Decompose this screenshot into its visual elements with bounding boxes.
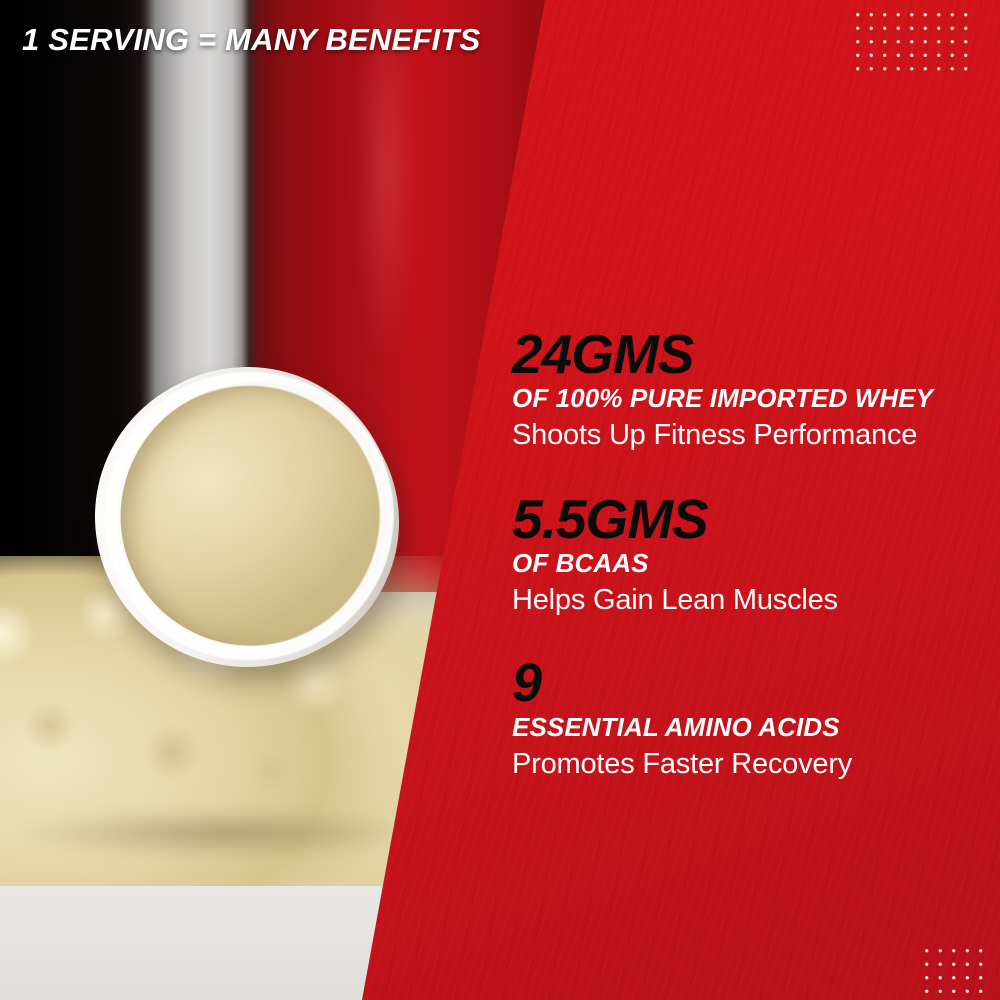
benefits-list: 24GMS OF 100% PURE IMPORTED WHEY Shoots … xyxy=(512,326,982,781)
benefit-amount: 9 xyxy=(512,656,982,711)
benefit-description: Helps Gain Lean Muscles xyxy=(512,583,982,618)
dot-grid-icon-bottom-right xyxy=(920,944,990,1000)
product-benefits-poster: 1 SERVING = MANY BENEFITS 24GMS OF 100% … xyxy=(0,0,1000,1000)
photo-container-highlight xyxy=(352,0,422,420)
dot-grid-icon-top-right xyxy=(851,8,975,78)
benefit-description: Promotes Faster Recovery xyxy=(512,747,982,782)
benefit-item-whey: 24GMS OF 100% PURE IMPORTED WHEY Shoots … xyxy=(512,326,982,453)
benefit-amount: 5.5GMS xyxy=(512,491,982,547)
benefit-subtitle: OF BCAAS xyxy=(512,549,982,579)
benefit-amount: 24GMS xyxy=(512,326,982,382)
page-title: 1 SERVING = MANY BENEFITS xyxy=(22,22,480,58)
benefit-description: Shoots Up Fitness Performance xyxy=(512,418,982,453)
benefit-subtitle: ESSENTIAL AMINO ACIDS xyxy=(512,713,982,743)
benefit-subtitle: OF 100% PURE IMPORTED WHEY xyxy=(512,384,982,414)
benefit-item-amino-acids: 9 ESSENTIAL AMINO ACIDS Promotes Faster … xyxy=(512,656,982,782)
benefit-item-bcaas: 5.5GMS OF BCAAS Helps Gain Lean Muscles xyxy=(512,491,982,618)
